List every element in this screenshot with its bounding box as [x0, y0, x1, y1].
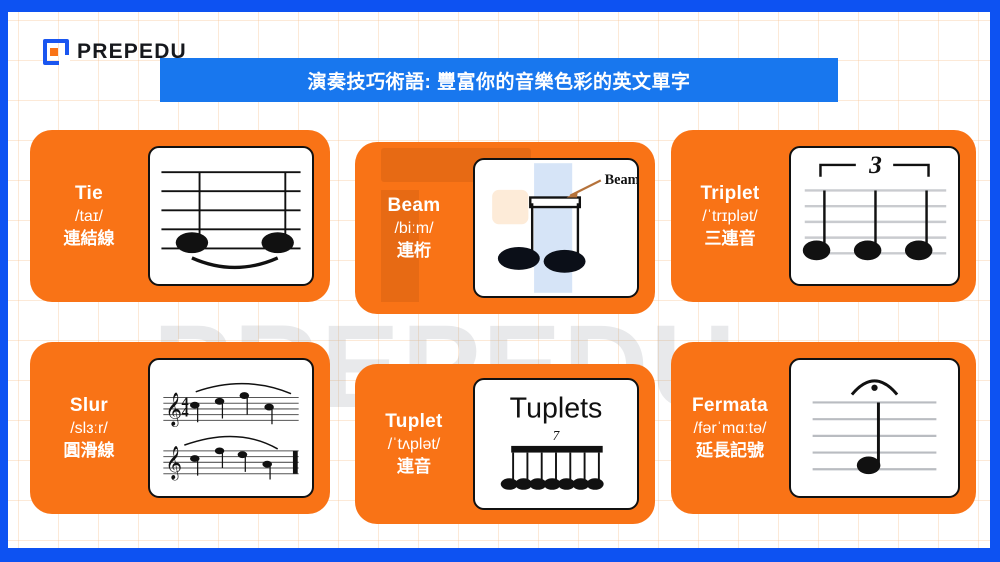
term-ipa: /biːm/	[394, 219, 433, 238]
term-english: Beam	[388, 195, 441, 217]
term-text-block: Beam /biːm/ 連桁	[355, 195, 473, 261]
page-title: 演奏技巧術語: 豐富你的音樂色彩的英文單字	[307, 67, 690, 94]
term-chinese: 連音	[397, 456, 431, 477]
term-chinese: 圓滑線	[64, 440, 115, 461]
term-chinese: 連結線	[64, 228, 115, 249]
illustration-triplet: 3	[789, 146, 960, 286]
term-english: Tie	[75, 183, 103, 205]
term-english: Tuplet	[385, 411, 442, 433]
svg-text:4: 4	[181, 395, 188, 411]
illustration-tuplet: Tuplets 7	[473, 378, 639, 510]
term-ipa: /fərˈmɑːtə/	[694, 419, 767, 438]
illustration-fermata	[789, 358, 960, 498]
term-card-slur[interactable]: Slur /slɜːr/ 圓滑線 𝄞 4 4	[30, 342, 330, 514]
term-text-block: Fermata /fərˈmɑːtə/ 延長記號	[671, 395, 789, 461]
beam-annotation: Beam	[605, 172, 637, 188]
term-chinese: 延長記號	[696, 440, 764, 461]
term-ipa: /ˈtrɪplət/	[702, 207, 757, 226]
term-ipa: /taɪ/	[75, 207, 103, 226]
term-card-beam[interactable]: Beam /biːm/ 連桁 Beam	[355, 142, 655, 314]
term-text-block: Tuplet /ˈtʌplət/ 連音	[355, 411, 473, 477]
term-english: Triplet	[700, 183, 759, 205]
prepedu-square-logo-icon	[43, 39, 69, 65]
term-card-tuplet[interactable]: Tuplet /ˈtʌplət/ 連音 Tuplets 7	[355, 364, 655, 524]
term-english: Slur	[70, 395, 108, 417]
triplet-number: 3	[868, 150, 882, 179]
term-text-block: Triplet /ˈtrɪplət/ 三連音	[671, 183, 789, 249]
term-ipa: /slɜːr/	[70, 419, 108, 438]
illustration-beam: Beam	[473, 158, 639, 298]
tuplet-word: Tuplets	[510, 392, 603, 424]
illustration-slur: 𝄞 4 4	[148, 358, 314, 498]
term-text-block: Slur /slɜːr/ 圓滑線	[30, 395, 148, 461]
term-english: Fermata	[692, 395, 768, 417]
tuplet-number: 7	[553, 428, 561, 443]
term-card-triplet[interactable]: Triplet /ˈtrɪplət/ 三連音	[671, 130, 976, 302]
illustration-tie	[148, 146, 314, 286]
term-card-tie[interactable]: Tie /taɪ/ 連結線	[30, 130, 330, 302]
term-chinese: 三連音	[705, 228, 756, 249]
slide-canvas: PREPEDU PREPEDU 演奏技巧術語: 豐富你的音樂色彩的英文單字 Ti…	[8, 12, 990, 548]
svg-text:𝄞: 𝄞	[165, 391, 182, 426]
slide-title-bar: 演奏技巧術語: 豐富你的音樂色彩的英文單字	[160, 58, 838, 102]
term-ipa: /ˈtʌplət/	[388, 435, 440, 454]
slide-frame: PREPEDU PREPEDU 演奏技巧術語: 豐富你的音樂色彩的英文單字 Ti…	[0, 0, 1000, 562]
svg-text:𝄞: 𝄞	[165, 445, 182, 480]
term-chinese: 連桁	[397, 240, 431, 261]
term-text-block: Tie /taɪ/ 連結線	[30, 183, 148, 249]
term-card-fermata[interactable]: Fermata /fərˈmɑːtə/ 延長記號	[671, 342, 976, 514]
